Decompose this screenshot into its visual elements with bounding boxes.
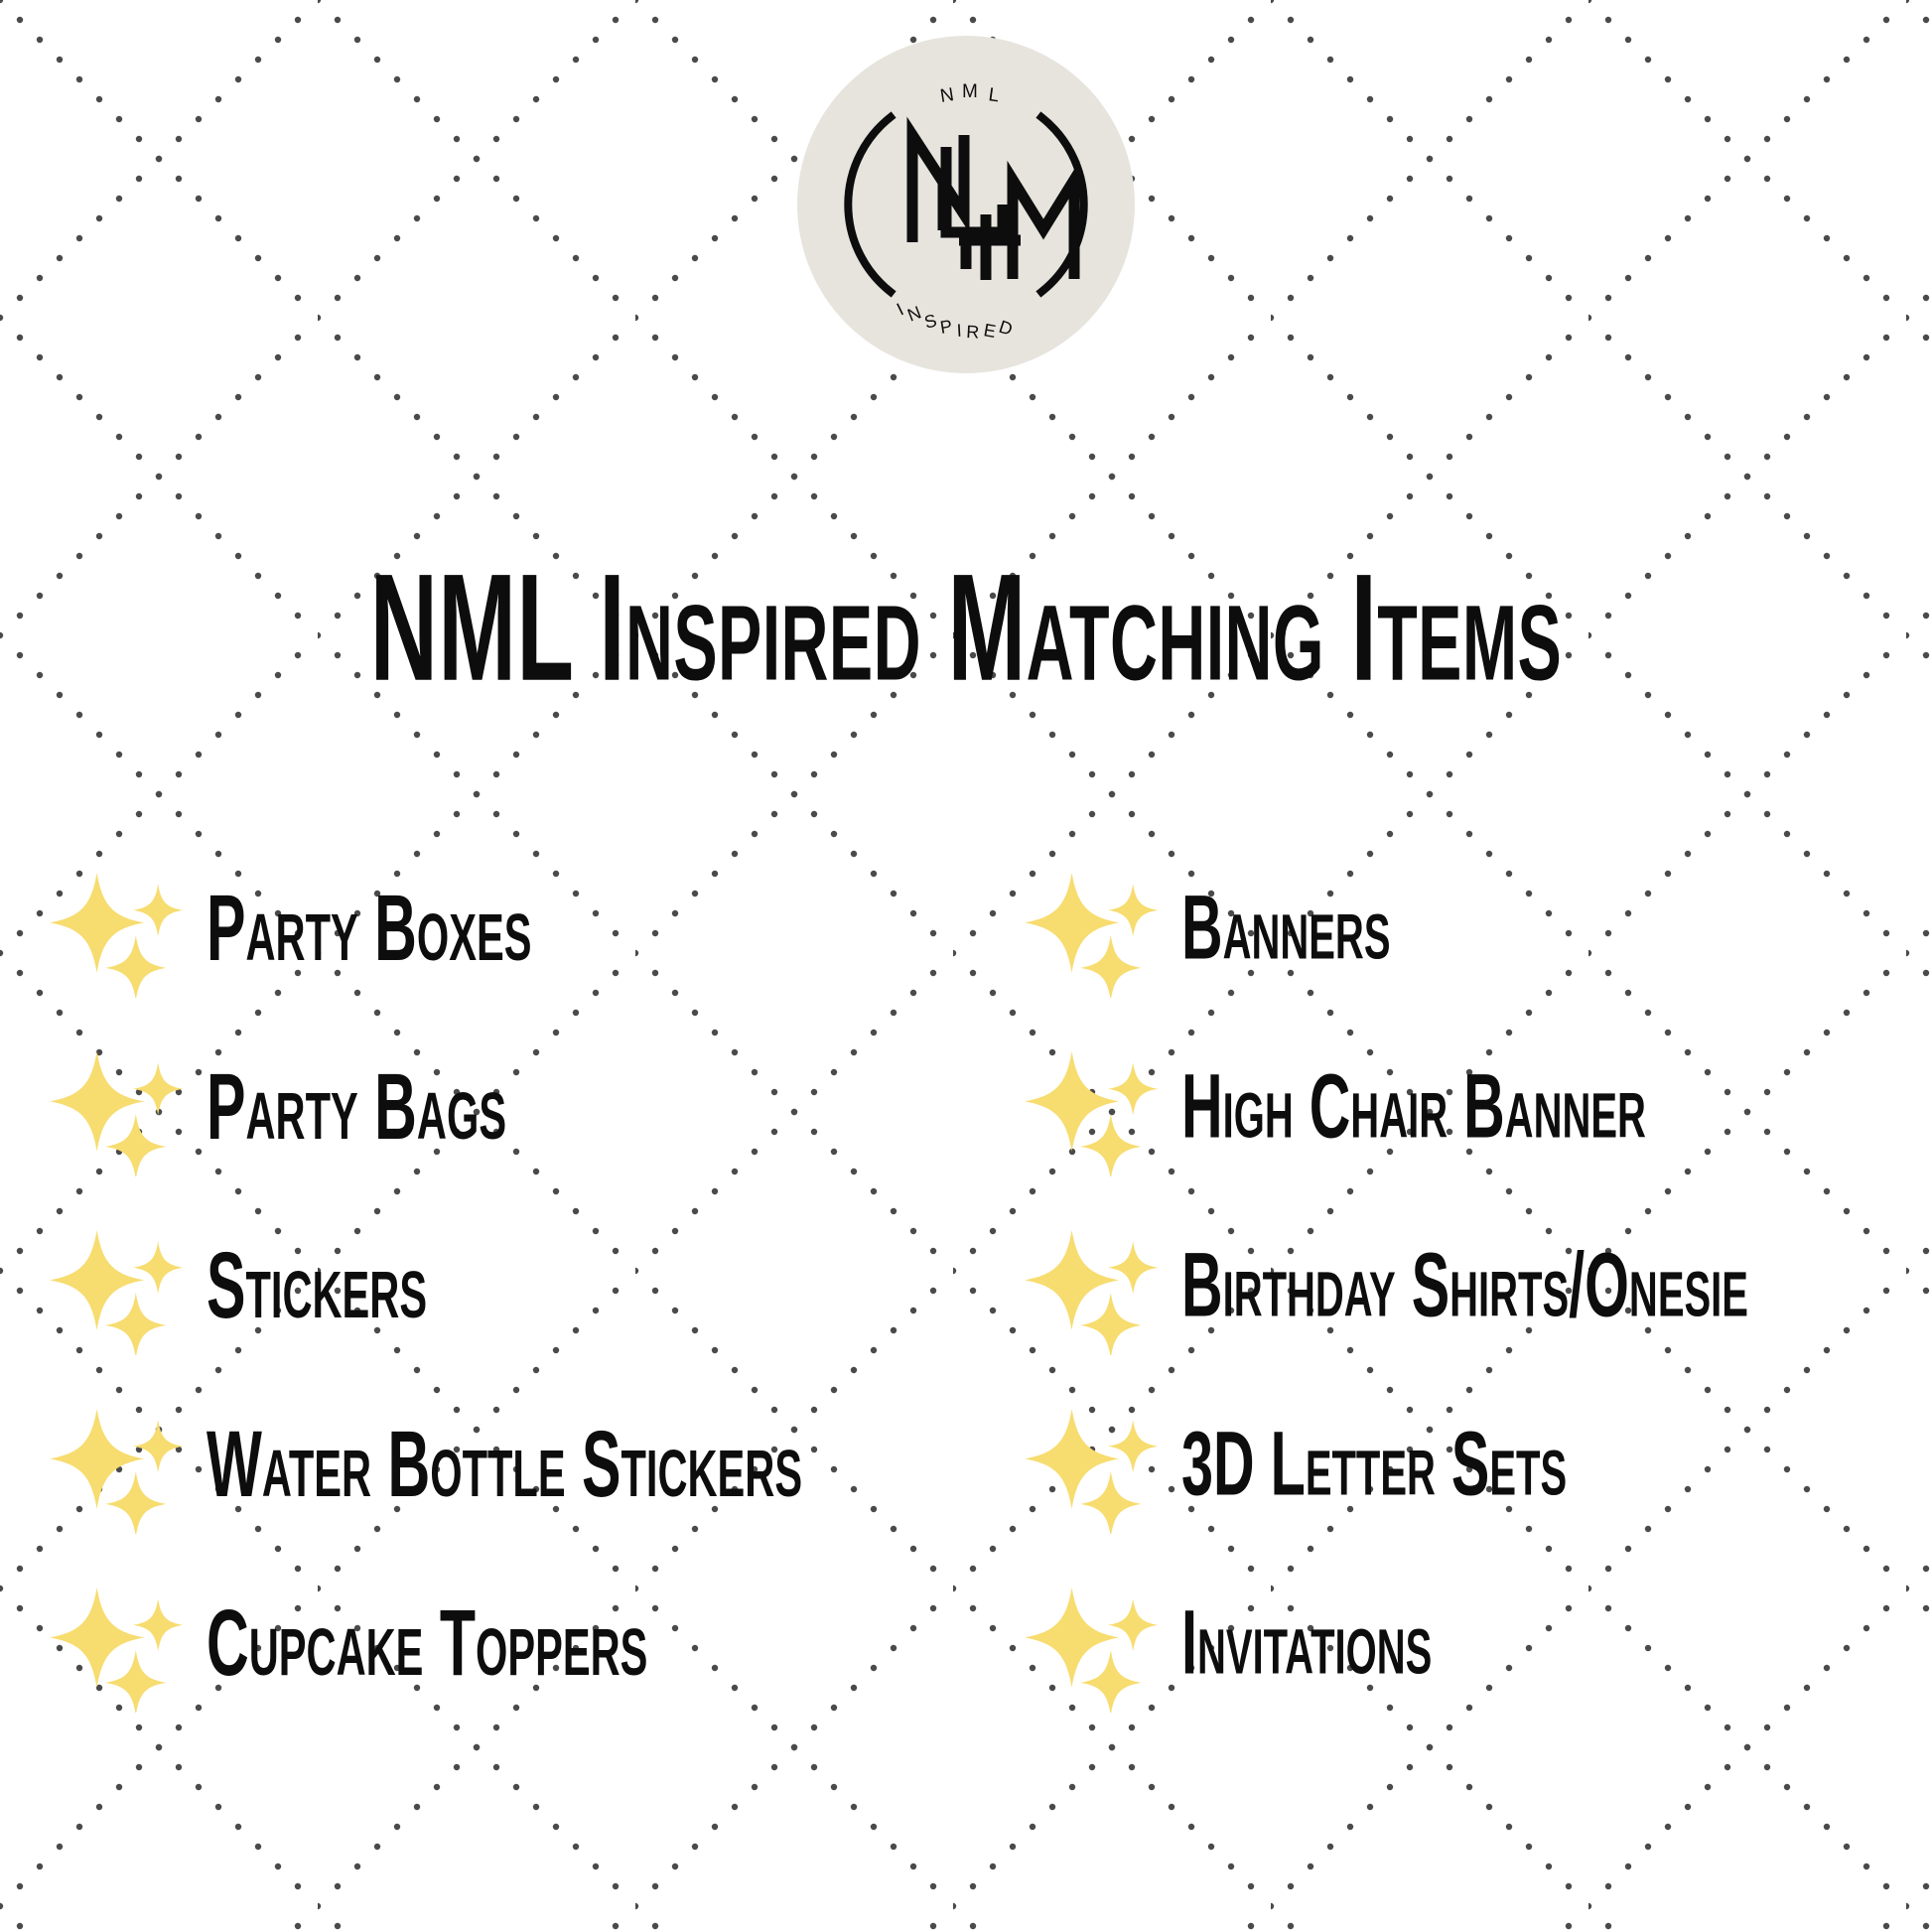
svg-text:E: E (982, 320, 999, 342)
sparkles-icon (50, 1574, 189, 1713)
list-item-label: Banners (1181, 883, 1391, 974)
svg-text:D: D (997, 317, 1017, 341)
list-item[interactable]: Birthday shirts/onesie (1025, 1196, 1932, 1375)
list-item-label: Cupcake Toppers (207, 1596, 647, 1691)
sparkles-icon (1025, 1395, 1164, 1534)
list-item[interactable]: Invitations (1025, 1554, 1932, 1732)
page-title: NML Inspired Matching Items (194, 552, 1739, 704)
list-item-label: Party Bags (207, 1060, 506, 1155)
sparkles-icon (1025, 1037, 1164, 1176)
list-item[interactable]: Party Boxes (50, 839, 1005, 1018)
items-column-left: Party Boxes Party Bags (0, 839, 1005, 1832)
items-column-right: Banners High chair banner (1005, 839, 1932, 1832)
list-item-label: Water Bottle Stickers (207, 1418, 802, 1512)
list-item[interactable]: Banners (1025, 839, 1932, 1018)
list-item-label: Invitations (1181, 1597, 1432, 1689)
list-item[interactable]: High chair banner (1025, 1018, 1932, 1196)
list-item-label: 3D Letter Sets (1181, 1419, 1567, 1510)
list-item[interactable]: Party Bags (50, 1018, 1005, 1196)
items-lists: Party Boxes Party Bags (0, 839, 1932, 1832)
svg-text:N: N (938, 84, 957, 107)
list-item-label: Stickers (207, 1239, 427, 1333)
svg-text:M: M (962, 81, 980, 102)
nml4m-logo-icon: N M L (817, 56, 1115, 353)
svg-text:I: I (956, 321, 964, 341)
sparkles-icon (50, 1395, 189, 1534)
svg-text:R: R (966, 322, 982, 343)
svg-text:L: L (987, 84, 1002, 107)
list-item[interactable]: 3D Letter Sets (1025, 1375, 1932, 1554)
list-item[interactable]: Cupcake Toppers (50, 1554, 1005, 1732)
svg-text:S: S (922, 310, 940, 333)
brand-logo-badge: N M L (797, 36, 1135, 373)
list-item-label: High chair banner (1181, 1061, 1646, 1153)
sparkles-icon (1025, 1216, 1164, 1355)
list-item-label: Birthday shirts/onesie (1181, 1240, 1748, 1331)
sparkles-icon (1025, 859, 1164, 998)
list-item[interactable]: Water Bottle Stickers (50, 1375, 1005, 1554)
list-item-label: Party Boxes (207, 882, 532, 976)
sparkles-icon (50, 1037, 189, 1176)
poster-canvas: N M L (0, 0, 1932, 1932)
sparkles-icon (50, 859, 189, 998)
list-item[interactable]: Stickers (50, 1196, 1005, 1375)
svg-text:P: P (938, 316, 954, 338)
sparkles-icon (1025, 1574, 1164, 1713)
sparkles-icon (50, 1216, 189, 1355)
